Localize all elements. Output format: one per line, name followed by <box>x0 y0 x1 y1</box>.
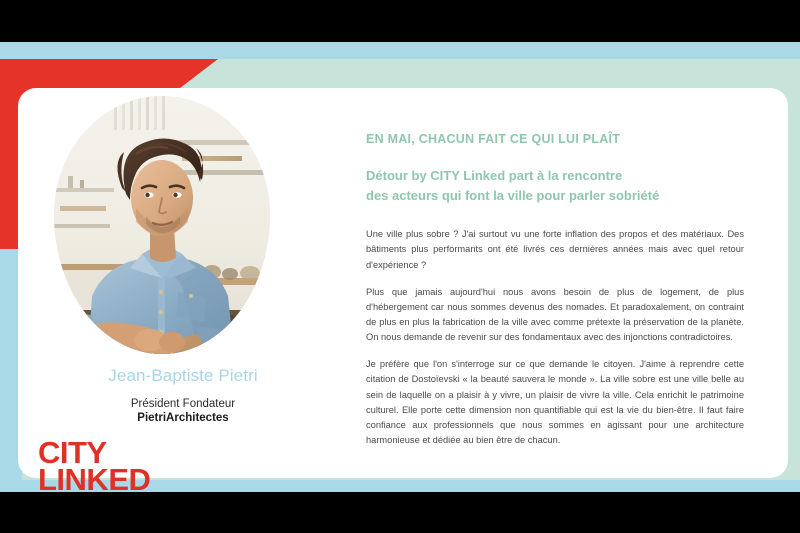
subheading-line-1: Détour by CITY Linked part à la rencontr… <box>366 166 744 186</box>
speaker-column: Jean-Baptiste Pietri Président Fondateur… <box>18 88 348 478</box>
article-paragraph: Je préfère que l'on s'interroge sur ce q… <box>366 357 744 448</box>
slide-viewer: Jean-Baptiste Pietri Président Fondateur… <box>0 0 800 533</box>
content-card: Jean-Baptiste Pietri Président Fondateur… <box>18 88 788 478</box>
city-linked-logo: CITY LINKED <box>38 440 150 492</box>
top-blue-band <box>0 42 800 59</box>
article-paragraph: Une ville plus sobre ? J'ai surtout vu u… <box>366 227 744 272</box>
article-subheading: Détour by CITY Linked part à la rencontr… <box>366 166 744 206</box>
subheading-line-2: des acteurs qui font la ville pour parle… <box>366 186 744 206</box>
article-column: EN MAI, CHACUN FAIT CE QUI LUI PLAÎT Dét… <box>348 88 788 478</box>
logo-line-linked: LINKED <box>38 467 150 492</box>
speaker-portrait <box>54 96 270 354</box>
speaker-company: PietriArchitectes <box>18 412 348 424</box>
speaker-name: Jean-Baptiste Pietri <box>18 366 348 386</box>
article-kicker: EN MAI, CHACUN FAIT CE QUI LUI PLAÎT <box>366 132 744 146</box>
article-paragraph: Plus que jamais aujourd'hui nous avons b… <box>366 285 744 346</box>
slide-canvas: Jean-Baptiste Pietri Président Fondateur… <box>0 42 800 492</box>
speaker-role: Président Fondateur <box>18 396 348 413</box>
